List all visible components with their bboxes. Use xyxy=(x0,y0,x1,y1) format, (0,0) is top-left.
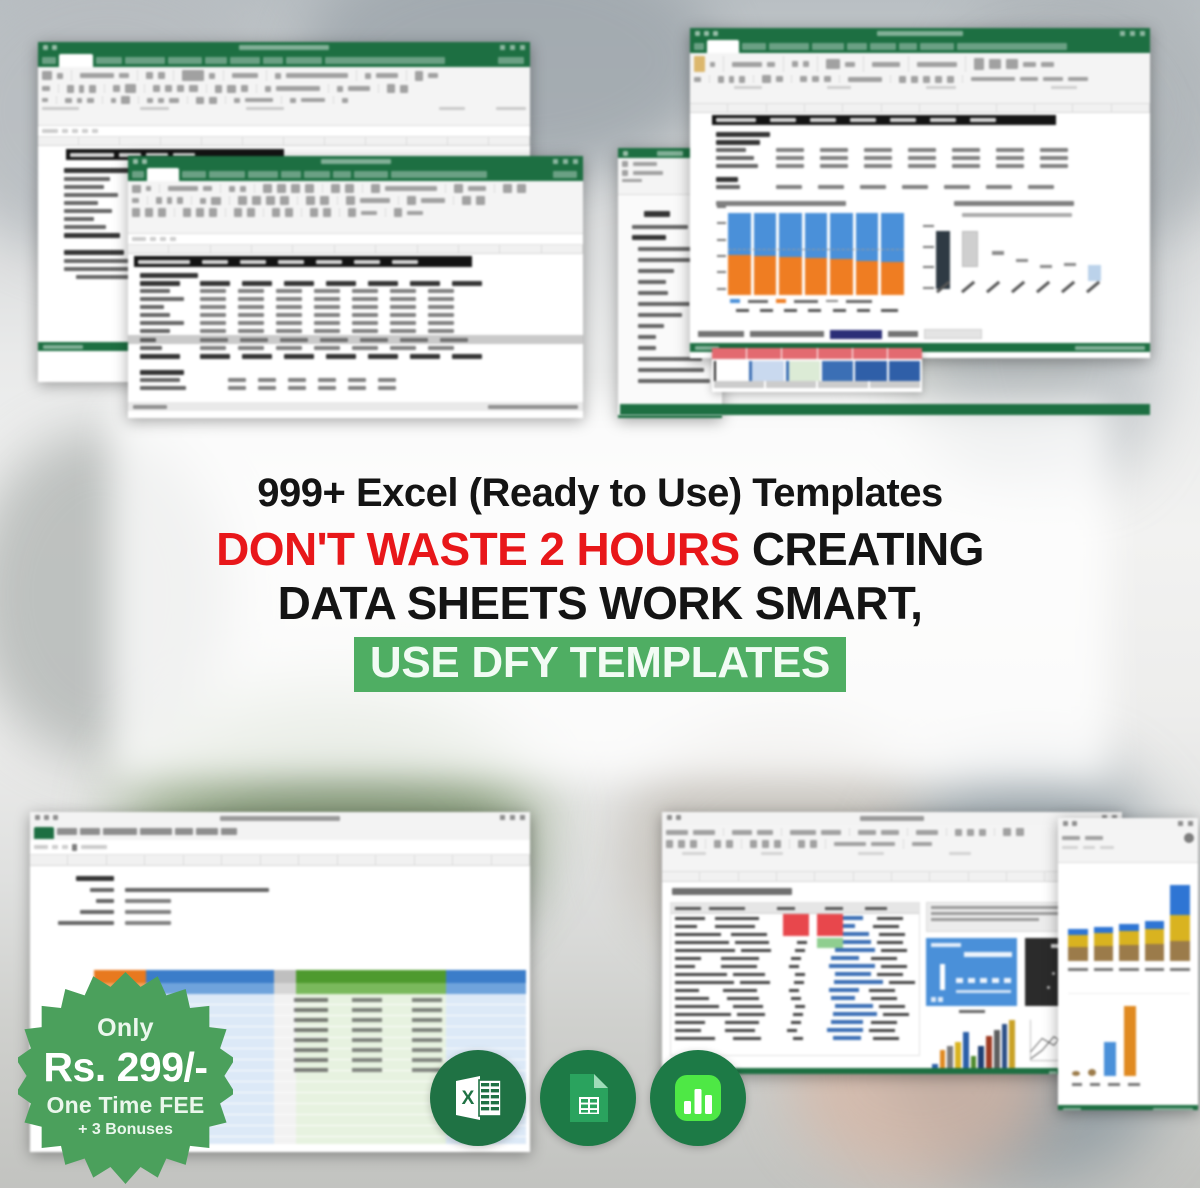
microsoft-excel-icon[interactable]: X xyxy=(430,1050,526,1146)
spreadsheet-window-bottom-far-right[interactable] xyxy=(1058,818,1198,1110)
column-headers[interactable] xyxy=(690,104,1150,113)
window-footer-strip xyxy=(620,404,1150,415)
table-row xyxy=(671,954,919,962)
window-title-bar xyxy=(30,812,530,826)
formula-bar[interactable] xyxy=(30,840,530,855)
column-headers[interactable] xyxy=(38,137,530,146)
table-row xyxy=(671,962,919,970)
headline-line-3: DATA SHEETS WORK SMART, xyxy=(0,576,1200,630)
spreadsheet-window-top-right[interactable] xyxy=(690,28,1150,358)
charts-pane[interactable] xyxy=(1058,863,1198,1105)
google-sheets-icon[interactable] xyxy=(540,1050,636,1146)
headline-line-4: USE DFY TEMPLATES xyxy=(0,637,1200,692)
formula-bar[interactable] xyxy=(38,126,530,137)
svg-text:X: X xyxy=(462,1088,475,1109)
headline-cta-band: USE DFY TEMPLATES xyxy=(354,637,846,692)
table-row xyxy=(671,1018,919,1026)
app-icon-row: X xyxy=(430,1050,746,1146)
ribbon-tabs[interactable] xyxy=(38,54,530,67)
price-badge: Only Rs. 299/- One Time FEE + 3 Bonuses xyxy=(18,972,233,1184)
column-headers[interactable] xyxy=(662,872,1122,882)
table-row xyxy=(671,1010,919,1018)
badge-bonus-label: + 3 Bonuses xyxy=(78,1121,173,1139)
table-row xyxy=(671,994,919,1002)
dashboard-canvas[interactable] xyxy=(662,882,1122,1068)
headline-black-text: CREATING xyxy=(752,523,984,575)
ribbon-toolbar[interactable] xyxy=(38,67,530,126)
spreadsheet-window-top-middle[interactable] xyxy=(128,156,583,418)
table-row xyxy=(671,1026,919,1034)
badge-fee-label: One Time FEE xyxy=(47,1092,205,1119)
window-title-bar xyxy=(690,28,1150,40)
ribbon-tabs[interactable] xyxy=(690,40,1150,53)
ribbon-toolbar[interactable] xyxy=(128,181,583,234)
data-bar-table[interactable] xyxy=(670,902,920,1056)
chart-right-edge-stacked-columns xyxy=(1068,871,1190,975)
table-row xyxy=(671,938,919,946)
ribbon-tabs[interactable] xyxy=(30,826,530,840)
promo-headline-block: 999+ Excel (Ready to Use) Templates DON'… xyxy=(0,470,1200,692)
poster-canvas: 999+ Excel (Ready to Use) Templates DON'… xyxy=(0,0,1200,1188)
window-title-bar xyxy=(662,812,1122,825)
formula-bar[interactable] xyxy=(128,234,583,245)
badge-only-label: Only xyxy=(97,1014,154,1043)
column-headers[interactable] xyxy=(30,855,530,866)
sheet-grid[interactable] xyxy=(690,113,1150,343)
apple-numbers-icon[interactable] xyxy=(650,1050,746,1146)
ribbon-toolbar[interactable] xyxy=(690,53,1150,104)
window-title-bar xyxy=(38,42,530,54)
window-title-bar xyxy=(128,156,583,168)
headline-eyebrow: 999+ Excel (Ready to Use) Templates xyxy=(0,470,1200,516)
table-row xyxy=(671,1002,919,1010)
spreadsheet-window-bottom-middle[interactable] xyxy=(662,812,1122,1074)
chart-income-analysis-stacked xyxy=(712,199,908,317)
headline-red-text: DON'T WASTE 2 HOURS xyxy=(216,523,739,575)
kpi-panel-blue xyxy=(926,938,1017,1006)
ribbon-toolbar[interactable] xyxy=(662,825,1122,872)
table-row xyxy=(671,986,919,994)
schedule-table-overlay[interactable] xyxy=(712,348,922,392)
table-row xyxy=(671,946,919,954)
window-title-bar xyxy=(1058,818,1198,830)
chart-right-edge-columns-lower xyxy=(1068,993,1190,1090)
column-headers[interactable] xyxy=(128,245,583,254)
table-row xyxy=(671,978,919,986)
status-bar xyxy=(128,402,583,411)
dashboard-title xyxy=(672,888,792,895)
headline-line-2: DON'T WASTE 2 HOURS CREATING xyxy=(0,522,1200,576)
table-row xyxy=(671,970,919,978)
ribbon-toolbar[interactable] xyxy=(1058,830,1198,863)
sheet-grid[interactable] xyxy=(128,254,583,402)
badge-price: Rs. 299/- xyxy=(43,1044,207,1091)
table-row xyxy=(671,1034,919,1042)
ribbon-tabs[interactable] xyxy=(128,168,583,181)
status-bar xyxy=(618,415,722,418)
chart-variance-waterfall xyxy=(918,199,1128,317)
chart-dashboard-color-columns xyxy=(926,1018,1017,1068)
sheet-tab-strip[interactable] xyxy=(698,329,1142,339)
status-bar xyxy=(1058,1105,1198,1110)
